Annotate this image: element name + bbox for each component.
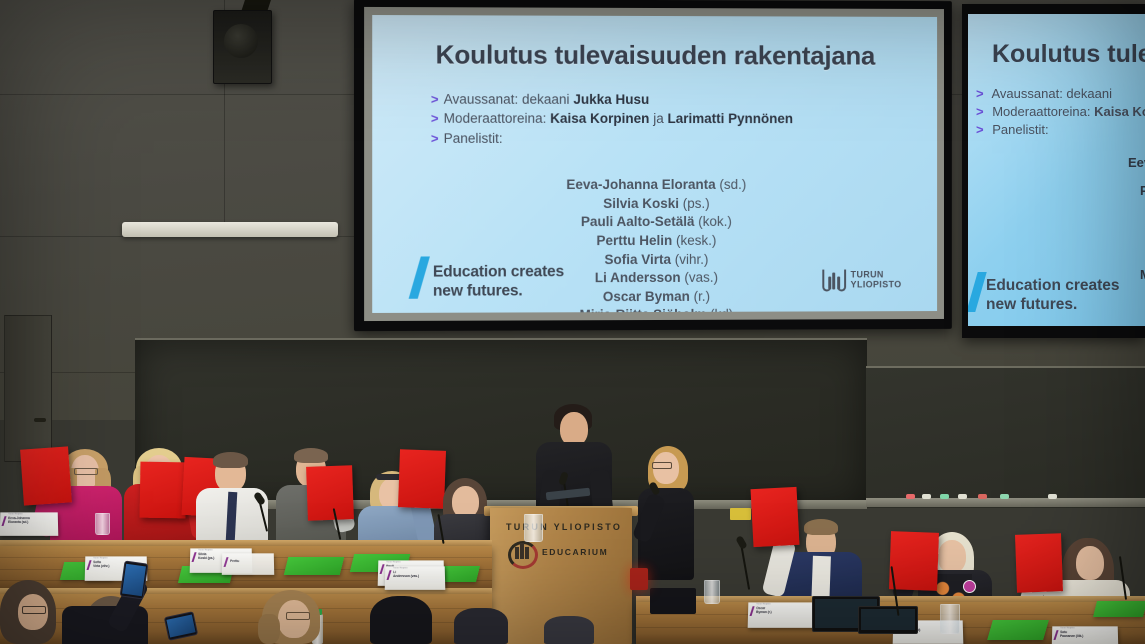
plate-org: Turun Yliopisto (93, 557, 107, 559)
slide2-panelist-1: Eeva-Johanna Eloranta (1128, 155, 1145, 170)
slide-tagline: Education creates new futures. (433, 264, 564, 301)
slide2-bullet-text: Panelistit: (992, 122, 1048, 137)
nameplate: Turun Yliopisto OscarByman (r.) (748, 602, 815, 627)
university-logo: TURUN YLIOPISTO (823, 267, 902, 291)
campaign-badge (963, 580, 976, 593)
head-covering (370, 596, 432, 644)
logo-line-1: TURUN (851, 269, 902, 279)
eyeglasses-icon (74, 468, 98, 475)
presentation-slide-duplicate: Koulutus tulevaisuuden rakentajana > Ava… (968, 14, 1145, 326)
educarium-logo-icon (508, 541, 534, 565)
slide-title: Koulutus tulevaisuuden rakentajana (372, 39, 937, 71)
laurel-crest-icon (823, 268, 845, 292)
brand-slash-icon (968, 272, 987, 312)
bullet-bold: Jukka Husu (573, 92, 649, 107)
slide2-tagline: Education creates new futures. (986, 277, 1120, 314)
chalk-piece[interactable] (1000, 494, 1009, 499)
plate-org: Turun Yliopisto (8, 513, 22, 515)
slide-panelist-8: Mirja-Riitta Sjöholm (kd) (372, 305, 937, 313)
slide2-bullet-3: > Panelistit: (976, 122, 1049, 138)
slide2-bullet-text: Moderaattoreina: (992, 104, 1094, 119)
chevron-right-icon: > (976, 86, 984, 101)
main-projection-screen: Koulutus tulevaisuuden rakentajana > Ava… (354, 0, 952, 331)
podium-educarium-text: EDUCARIUM (542, 547, 608, 557)
slide-panelist-1: Eeva-Johanna Eloranta (sd.) (372, 176, 937, 195)
projector-screen-roller (122, 222, 338, 237)
nameplate: Perttu (222, 553, 274, 575)
secondary-projection-screen: Koulutus tulevaisuuden rakentajana > Ava… (962, 4, 1145, 338)
panelist-party: (ps.) (683, 196, 710, 211)
plate-name: SatuPaananen (liik.) (1060, 630, 1083, 638)
chalk-piece[interactable] (922, 494, 931, 499)
chevron-right-icon: > (431, 111, 439, 127)
university-logo-text: TURUN YLIOPISTO (851, 269, 902, 289)
panelist-name: Silvia Koski (603, 196, 683, 211)
panelist-party: (kesk.) (676, 233, 716, 248)
bullet-prefix: Panelistit: (444, 130, 503, 145)
chalk-piece[interactable] (1048, 494, 1057, 499)
speaker-cone-icon (224, 24, 258, 58)
bullet-prefix: Moderaattoreina: (444, 111, 551, 126)
green-voting-card[interactable] (284, 557, 344, 575)
bullet-bold: Kaisa Korpinen (550, 111, 649, 126)
tagline-line-1: Education creates (986, 277, 1120, 295)
bullet-prefix: Avaussanat: dekaani (444, 92, 574, 107)
brand-slash-icon (409, 256, 430, 298)
eyeglasses-icon (652, 462, 672, 469)
slide2-panelist-8: Mirja-Riitta Sjöholm (1140, 267, 1145, 282)
plate-name: Perttu (230, 559, 239, 563)
red-voting-card[interactable] (889, 531, 939, 591)
panelist-name: Pauli Aalto-Setälä (581, 214, 698, 229)
door-handle[interactable] (34, 418, 46, 422)
chalk-piece[interactable] (940, 494, 949, 499)
slide2-title: Koulutus tulevaisuuden rakentajana (992, 40, 1145, 69)
logo-line-2: YLIOPISTO (851, 279, 902, 289)
panelist-party: (kd) (710, 307, 733, 313)
red-voting-card[interactable] (1015, 533, 1063, 593)
water-glass[interactable] (940, 604, 960, 634)
slide-panelist-2: Silvia Koski (ps.) (372, 194, 937, 213)
slide2-bullet-bold: Kaisa Korpinen (1094, 104, 1145, 119)
red-voting-card[interactable] (398, 449, 446, 509)
laptop[interactable] (858, 606, 918, 634)
water-glass[interactable] (524, 514, 543, 542)
presentation-slide: Koulutus tulevaisuuden rakentajana > Ava… (372, 15, 937, 313)
panelist-name: Perttu Helin (596, 233, 676, 248)
water-glass[interactable] (95, 513, 110, 535)
chevron-right-icon: > (431, 92, 439, 108)
eyeglasses-icon (22, 606, 46, 614)
chevron-right-icon: > (976, 122, 984, 137)
bullet-item-panelists: > Panelistit: (431, 130, 793, 146)
chalkboard-right (866, 366, 1145, 508)
eraser[interactable] (730, 508, 751, 520)
chevron-right-icon: > (431, 130, 439, 146)
slide-bullet-list: > Avaussanat: dekaani Jukka Husu > Moder… (431, 92, 793, 150)
plate-name: SilviaKoski (ps.) (198, 552, 214, 560)
slide-footer: Education creates new futures. TURUN YLI… (372, 251, 937, 304)
nameplate: Turun Yliopisto Eeva-JohannaEloranta (sd… (0, 512, 58, 535)
bullet-item-opening-words: > Avaussanat: dekaani Jukka Husu (431, 92, 793, 109)
chevron-right-icon: > (976, 104, 984, 119)
slide2-panelist-3: Pauli Aalto-Setälä (1140, 183, 1145, 198)
warning-light (630, 568, 648, 590)
chalk-piece[interactable] (958, 494, 967, 499)
green-voting-card[interactable] (987, 620, 1049, 640)
tagline-line-2: new futures. (986, 296, 1120, 314)
plate-name: LiAndersson (vas.) (393, 570, 419, 578)
tagline-line-2: new futures. (433, 282, 564, 301)
lecture-hall-photo: Koulutus tulevaisuuden rakentajana > Ava… (0, 0, 1145, 644)
desk-microphone (735, 535, 748, 550)
slide2-bullet-text: Avaussanat: dekaani (992, 86, 1112, 101)
bullet-mid: ja (649, 111, 667, 126)
chalkboard-ledge (866, 498, 1145, 507)
desk-microphone (740, 542, 750, 590)
bullet-item-moderators: > Moderaattoreina: Kaisa Korpinen ja Lar… (431, 111, 793, 128)
chalk-piece[interactable] (978, 494, 987, 499)
plate-org: Turun Yliopisto (198, 549, 212, 551)
slide-panelist-3: Pauli Aalto-Setälä (kok.) (372, 213, 937, 232)
plate-name: SofiaVirta (vihr.) (93, 560, 109, 568)
plate-org: Turun Yliopisto (386, 561, 400, 563)
slide2-bullet-2: > Moderaattoreina: Kaisa Korpinen (976, 104, 1145, 120)
panelist-party: (sd.) (719, 177, 746, 192)
side-door[interactable] (4, 315, 52, 462)
plate-org: Turun Yliopisto (756, 603, 770, 605)
smartphone[interactable] (120, 561, 149, 600)
nameplate: Turun Yliopisto SatuPaananen (liik.) (1052, 626, 1119, 644)
eyeglasses-icon (286, 612, 310, 620)
panelist-name: Eeva-Johanna Eloranta (566, 177, 719, 192)
plate-name: OscarByman (r.) (756, 606, 772, 614)
plate-org: Turun Yliopisto (1060, 627, 1074, 629)
chalk-piece[interactable] (906, 494, 915, 499)
red-voting-card[interactable] (751, 487, 800, 547)
green-voting-card[interactable] (1093, 601, 1145, 617)
red-voting-card[interactable] (306, 465, 354, 521)
tagline-line-1: Education creates (433, 264, 564, 283)
panelist-name: Mirja-Riitta Sjöholm (579, 307, 710, 313)
laptop[interactable] (650, 588, 696, 614)
screen-border: Koulutus tulevaisuuden rakentajana > Ava… (364, 7, 944, 321)
panelist-party: (kok.) (698, 214, 732, 229)
bullet-bold-2: Larimatti Pynnönen (667, 111, 793, 126)
plate-name: Eeva-JohannaEloranta (sd.) (8, 516, 30, 524)
water-glass[interactable] (704, 580, 720, 604)
slide-panelist-4: Perttu Helin (kesk.) (372, 231, 937, 251)
nameplate: Turun Yliopisto LiAndersson (vas.) (385, 566, 446, 589)
chalkboard-main (135, 338, 867, 508)
slide2-bullet-1: > Avaussanat: dekaani (976, 86, 1112, 102)
red-voting-card[interactable] (20, 446, 72, 505)
plate-org: Turun Yliopisto (393, 567, 407, 569)
red-voting-card[interactable] (140, 462, 187, 519)
